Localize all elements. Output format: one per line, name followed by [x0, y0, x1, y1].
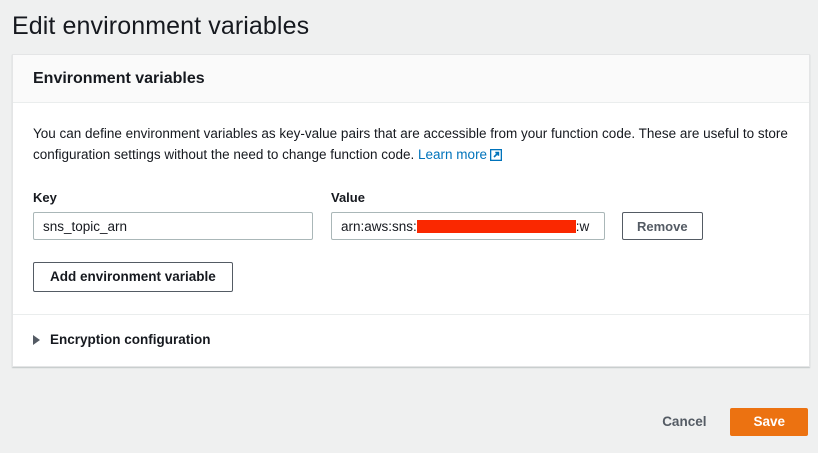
card-header-title: Environment variables [33, 69, 789, 89]
page-title: Edit environment variables [0, 0, 818, 42]
remove-button[interactable]: Remove [622, 212, 703, 240]
learn-more-label: Learn more [418, 147, 487, 162]
key-field-group: Key sns_topic_arn [33, 189, 313, 240]
learn-more-link[interactable]: Learn more [418, 147, 502, 162]
cancel-button[interactable]: Cancel [652, 408, 716, 436]
footer-actions: Cancel Save [652, 408, 808, 436]
key-input[interactable]: sns_topic_arn [33, 212, 313, 240]
add-environment-variable-button[interactable]: Add environment variable [33, 262, 233, 292]
key-label: Key [33, 189, 313, 206]
save-button[interactable]: Save [730, 408, 808, 436]
value-input-suffix: :w [576, 219, 590, 234]
external-link-icon [490, 146, 502, 167]
environment-variables-card: Environment variables You can define env… [12, 54, 810, 367]
redaction-bar [417, 220, 576, 233]
card-body: You can define environment variables as … [13, 103, 809, 314]
value-label: Value [331, 189, 605, 206]
encryption-configuration-label: Encryption configuration [50, 331, 211, 349]
value-input-prefix: arn:aws:sns: [341, 219, 417, 234]
encryption-configuration-section[interactable]: Encryption configuration [13, 315, 809, 366]
description-text: You can define environment variables as … [33, 123, 789, 167]
value-input[interactable]: arn:aws:sns::w [331, 212, 605, 240]
card-header: Environment variables [13, 55, 809, 103]
caret-right-icon [33, 335, 40, 345]
description-sentence: You can define environment variables as … [33, 126, 788, 162]
value-field-group: Value arn:aws:sns::w [331, 189, 605, 240]
key-input-value: sns_topic_arn [43, 219, 127, 234]
environment-variable-row: Key sns_topic_arn Value arn:aws:sns::w R… [33, 189, 789, 240]
